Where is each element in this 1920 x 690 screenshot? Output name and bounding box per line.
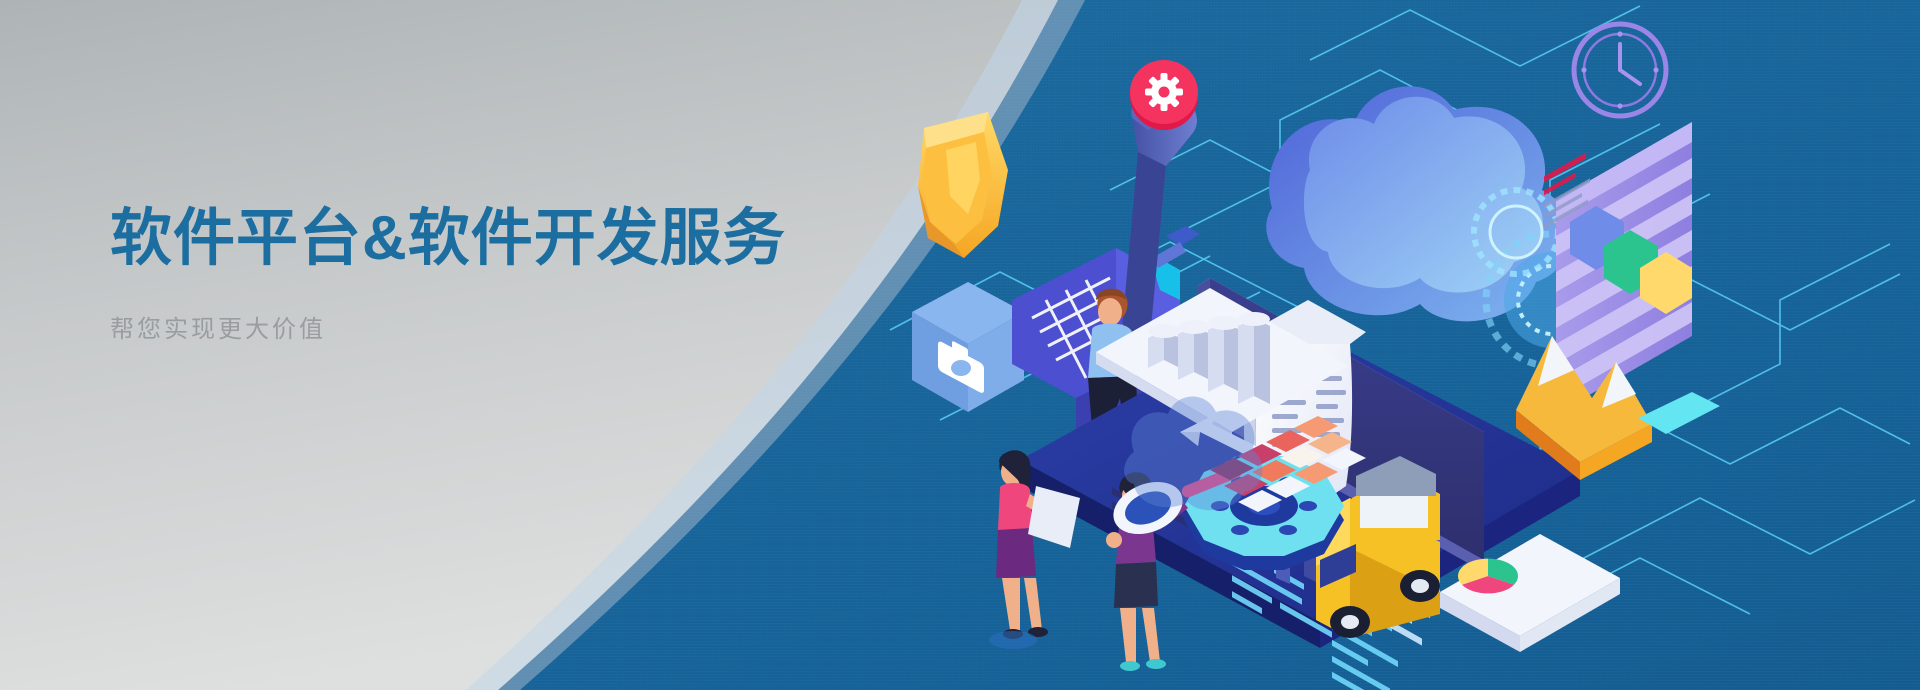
hero-text-block: 软件平台&软件开发服务 帮您实现更大价值 — [110, 205, 870, 344]
page-title: 软件平台&软件开发服务 — [110, 205, 870, 273]
camera-icon — [912, 282, 1024, 412]
gear-badge-icon — [1130, 60, 1198, 130]
hero-banner: 软件平台&软件开发服务 帮您实现更大价值 — [0, 0, 1920, 690]
shield-icon — [918, 112, 1008, 258]
hero-illustration — [880, 0, 1920, 690]
page-subtitle: 帮您实现更大价值 — [110, 309, 870, 344]
clock-icon — [1574, 24, 1666, 116]
